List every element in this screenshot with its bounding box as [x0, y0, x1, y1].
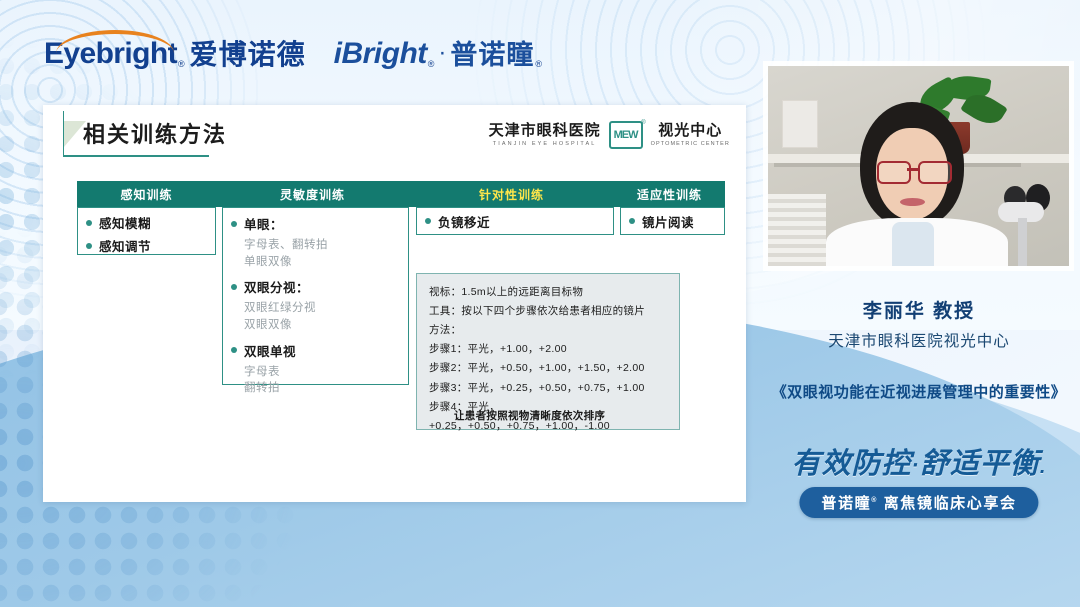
perception-item-1: 感知模糊: [99, 213, 151, 232]
sensitivity-group-3-header: 双眼单视: [231, 341, 408, 360]
list-item: 单眼： 字母表、翻转拍 单眼双像: [231, 214, 408, 270]
hospital-name-block: 天津市眼科医院 TIANJIN EYE HOSPITAL: [489, 123, 601, 148]
bullet-dot-icon: [231, 347, 237, 353]
photo-glasses-right-lens: [918, 161, 952, 184]
event-brand-registered-mark: ®: [871, 497, 878, 504]
sensitivity-group-1-title: 单眼：: [244, 214, 283, 233]
eyebright-arc-icon: [56, 30, 174, 58]
bullet-dot-icon: [425, 218, 431, 224]
optometric-center-block: 视光中心 OPTOMETRIC CENTER: [651, 123, 730, 148]
ibright-separator-dot: ·: [438, 39, 446, 67]
center-name-en: OPTOMETRIC CENTER: [651, 141, 730, 147]
event-badge-text: 离焦镜临床心享会: [884, 495, 1017, 512]
sensitivity-group-2-sub-1: 双眼红绿分视: [231, 300, 408, 317]
table-cell-adaptive: 镜片阅读: [620, 207, 725, 235]
mew-registered-mark: ®: [641, 120, 645, 126]
speaker-topic: 《双眼视功能在近视进展管理中的重要性》: [758, 381, 1080, 402]
event-slogan: 有效防控·舒适平衡.: [758, 440, 1080, 482]
bullet-dot-icon: [231, 284, 237, 290]
sensitivity-group-2-sub-2: 双眼双像: [231, 317, 408, 334]
page-title: 相关训练方法: [73, 117, 227, 149]
list-item: 镜片阅读: [629, 212, 694, 231]
ibright-logo: iBright ® · 普诺瞳 ®: [334, 39, 542, 69]
list-item: 负镜移近: [425, 212, 490, 231]
sensitivity-group-2-header: 双眼分视：: [231, 277, 408, 296]
list-item: 双眼单视 字母表 翻转拍: [231, 341, 408, 397]
ibright-wordmark: iBright: [334, 39, 427, 69]
slide-header: 相关训练方法 天津市眼科医院 TIANJIN EYE HOSPITAL MEW …: [43, 105, 746, 167]
sensitivity-group-1-sub-2: 单眼双像: [231, 254, 408, 271]
list-item: 感知调节: [86, 236, 215, 255]
hospital-logo: 天津市眼科医院 TIANJIN EYE HOSPITAL MEW ® 视光中心 …: [489, 121, 730, 149]
ibright-cn-registered-mark: ®: [535, 59, 542, 69]
event-slogan-period: .: [1040, 456, 1047, 478]
speaker-name: 李丽华 教授: [758, 296, 1080, 323]
table-header-sensitivity: 灵敏度训练: [216, 181, 409, 207]
targeted-item-1: 负镜移近: [438, 212, 490, 231]
brand-bar: Eyebright ® 爱博诺德 iBright ® · 普诺瞳 ®: [44, 33, 542, 75]
detail-target: 视标：1.5m以上的远距离目标物: [429, 283, 671, 302]
table-header-row: 感知训练 灵敏度训练 针对性训练 适应性训练: [77, 181, 725, 207]
eyebright-chinese-name: 爱博诺德: [190, 41, 306, 69]
event-slogan-dot: ·: [912, 452, 920, 477]
slide-title-block: 相关训练方法: [73, 117, 227, 149]
sensitivity-group-1-sub-1: 字母表、翻转拍: [231, 237, 408, 254]
detail-step-3: 步骤3：平光，+0.25，+0.50，+0.75，+1.00: [429, 379, 671, 398]
ibright-registered-mark: ®: [428, 59, 435, 69]
sensitivity-group-2-title: 双眼分视：: [244, 277, 309, 296]
training-methods-table: 感知训练 灵敏度训练 针对性训练 适应性训练 感知模糊 感知调节: [77, 181, 725, 207]
detail-tools: 工具：按以下四个步骤依次给患者相应的镜片: [429, 302, 671, 321]
title-underline: [63, 155, 209, 157]
speaker-organization: 天津市眼科医院视光中心: [758, 329, 1080, 351]
perception-item-2: 感知调节: [99, 236, 151, 255]
event-slogan-part-2: 舒适平衡: [920, 448, 1040, 480]
sensitivity-group-3-title: 双眼单视: [244, 341, 296, 360]
event-brand-name: 普诺瞳: [821, 495, 871, 512]
photo-person-shirt: [892, 222, 934, 266]
center-name-cn: 视光中心: [658, 123, 722, 140]
sensitivity-group-3-sub-1: 字母表: [231, 364, 408, 381]
photo-glasses-bridge: [907, 168, 918, 171]
photo-wall-frame: [782, 100, 818, 148]
detail-procedure-box: 视标：1.5m以上的远距离目标物 工具：按以下四个步骤依次给患者相应的镜片 方法…: [416, 273, 680, 430]
event-slogan-part-1: 有效防控: [792, 448, 912, 480]
list-item: 双眼分视： 双眼红绿分视 双眼双像: [231, 277, 408, 333]
detail-method-label: 方法：: [429, 321, 671, 340]
event-name-badge: 普诺瞳® 离焦镜临床心享会: [799, 487, 1038, 518]
mew-monogram-icon: MEW ®: [609, 121, 643, 149]
table-cell-perception: 感知模糊 感知调节: [77, 207, 216, 255]
sensitivity-group-3-sub-2: 翻转拍: [231, 380, 408, 397]
photo-blinds: [768, 194, 826, 266]
table-header-perception: 感知训练: [77, 181, 216, 207]
bullet-dot-icon: [86, 220, 92, 226]
mew-monogram-text: MEW: [614, 130, 638, 141]
detail-step-2: 步骤2：平光，+0.50，+1.00，+1.50，+2.00: [429, 359, 671, 378]
presentation-slide: 相关训练方法 天津市眼科医院 TIANJIN EYE HOSPITAL MEW …: [43, 105, 746, 502]
ibright-chinese-name: 普诺瞳: [450, 42, 534, 69]
hospital-name-en: TIANJIN EYE HOSPITAL: [493, 141, 597, 147]
photo-person-lips: [900, 198, 925, 206]
photo-glasses-left-lens: [877, 161, 911, 184]
table-header-adaptive: 适应性训练: [614, 181, 725, 207]
list-item: 感知模糊: [86, 213, 215, 232]
speaker-photo: [768, 66, 1069, 266]
hospital-name-cn: 天津市眼科医院: [489, 123, 601, 140]
table-cell-targeted: 负镜移近: [416, 207, 614, 235]
bullet-dot-icon: [629, 218, 635, 224]
photo-slitlamp-stem: [1018, 218, 1027, 266]
eyebright-registered-mark: ®: [178, 59, 185, 69]
eyebright-logo: Eyebright ® 爱博诺德: [44, 39, 306, 69]
bullet-dot-icon: [86, 243, 92, 249]
detail-step-1: 步骤1：平光，+1.00，+2.00: [429, 340, 671, 359]
table-header-targeted: 针对性训练: [409, 181, 614, 207]
detail-footer-note: 让患者按照视物清晰度依次排序: [454, 408, 605, 423]
table-cell-sensitivity: 单眼： 字母表、翻转拍 单眼双像 双眼分视： 双眼红绿分视 双眼双像: [222, 207, 409, 385]
adaptive-item-1: 镜片阅读: [642, 212, 694, 231]
bullet-dot-icon: [231, 221, 237, 227]
sensitivity-group-1-header: 单眼：: [231, 214, 408, 233]
speaker-panel: 李丽华 教授 天津市眼科医院视光中心 《双眼视功能在近视进展管理中的重要性》 有…: [758, 0, 1080, 607]
